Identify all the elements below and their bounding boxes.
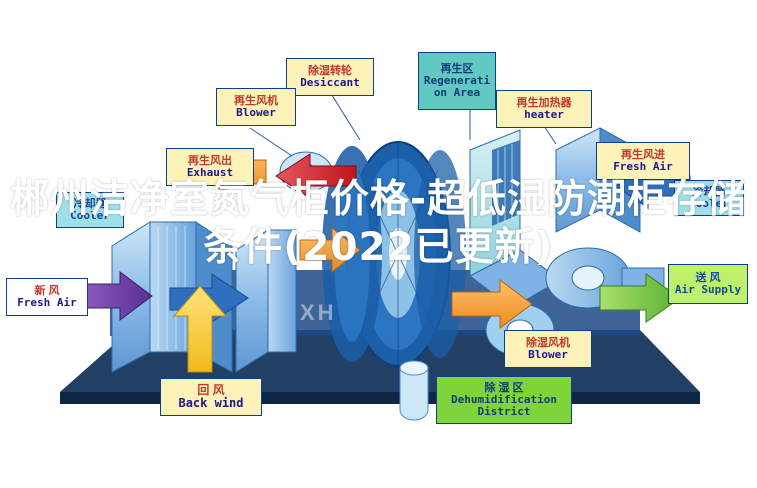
label-dehumidification-district-en: Dehumidification District <box>451 394 557 419</box>
label-back-wind-en: Back wind <box>178 397 243 410</box>
label-regen-heater: 再生加热器 heater <box>496 90 592 128</box>
label-desiccant-rotor: 除湿转轮 Desiccant <box>286 58 374 96</box>
ghost-watermark: XH <box>300 300 460 326</box>
label-air-supply: 送 风 Air Supply <box>668 264 748 304</box>
label-cooler-left: 冷却器 Cooler <box>56 192 124 228</box>
label-regen-exhaust-en: Exhaust <box>187 167 233 179</box>
label-process-blower: 除湿风机 Blower <box>504 330 592 368</box>
label-regen-blower: 再生风机 Blower <box>216 88 296 126</box>
label-regeneration-area-en: Regenerati on Area <box>424 75 490 100</box>
diagram-canvas: 除湿转轮 Desiccant 再生区 Regenerati on Area 再生… <box>0 0 757 488</box>
label-air-supply-en: Air Supply <box>675 284 741 296</box>
label-dehumidification-district-cn: 除 湿 区 <box>484 382 523 394</box>
label-regeneration-area: 再生区 Regenerati on Area <box>418 52 496 110</box>
label-desiccant-rotor-en: Desiccant <box>300 77 360 89</box>
schematic-illustration <box>0 0 757 488</box>
label-regeneration-area-cn: 再生区 <box>441 63 474 75</box>
label-fresh-air-en: Fresh Air <box>17 297 77 309</box>
label-dehumidification-district: 除 湿 区 Dehumidification District <box>436 376 572 424</box>
drain-tube <box>400 361 428 420</box>
label-cooler-right: 冷却器 Cooler <box>674 180 744 216</box>
label-back-wind: 回 风 Back wind <box>160 378 262 416</box>
label-regen-exhaust: 再生风出 Exhaust <box>166 148 254 186</box>
label-fresh-air: 新 风 Fresh Air <box>6 278 88 316</box>
label-cooler-left-en: Cooler <box>70 210 110 222</box>
label-regen-inlet-en: Fresh Air <box>613 161 673 173</box>
label-regen-inlet: 再生风进 Fresh Air <box>596 142 690 180</box>
label-back-wind-cn: 回 风 <box>197 384 224 397</box>
label-cooler-right-en: Cooler <box>689 198 729 210</box>
label-regen-heater-en: heater <box>524 109 564 121</box>
secondary-coil <box>236 230 296 372</box>
label-process-blower-en: Blower <box>528 349 568 361</box>
label-regen-blower-en: Blower <box>236 107 276 119</box>
